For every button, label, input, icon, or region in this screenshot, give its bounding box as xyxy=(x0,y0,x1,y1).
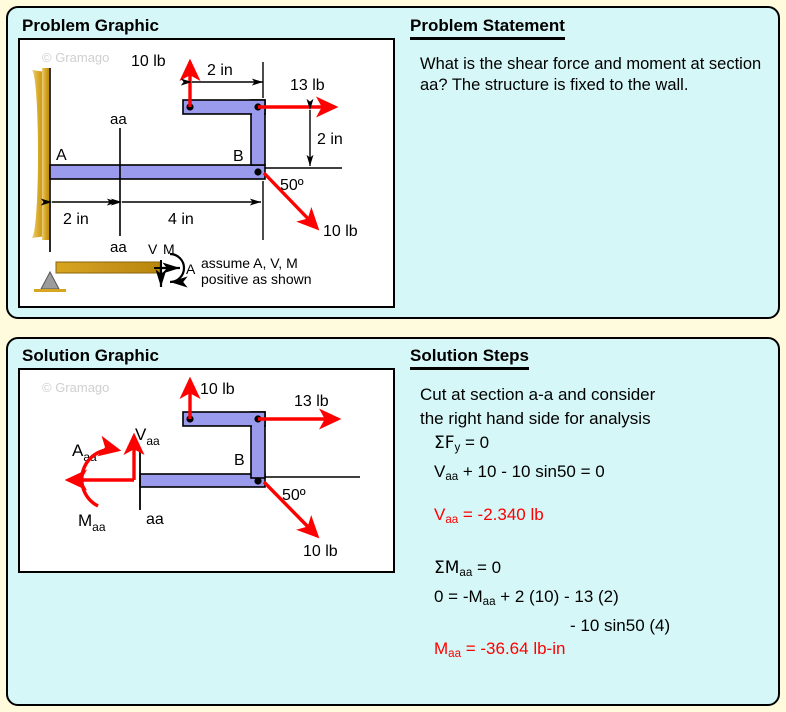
label-point-a: A xyxy=(56,147,67,164)
label-aaa: Aaa xyxy=(72,441,97,464)
solution-graphic-title: Solution Graphic xyxy=(22,346,159,366)
label-maa: Maa xyxy=(78,511,106,534)
label-force-13lb: 13 lb xyxy=(290,77,325,94)
label-dim-2in: 2 in xyxy=(63,211,89,228)
solution-label-force-10lb-angled: 10 lb xyxy=(303,543,338,560)
problem-panel: Problem Graphic Problem Statement © Gram… xyxy=(6,6,780,319)
result-moment-maa: Maa = -36.64 lb-in xyxy=(434,637,780,666)
label-point-b: B xyxy=(233,148,244,165)
convention-beam xyxy=(56,262,160,273)
watermark-solution: © Gramago xyxy=(42,380,109,395)
label-dim-right-2in: 2 in xyxy=(317,131,343,148)
pin-support-triangle xyxy=(41,272,59,289)
label-force-10lb-angled: 10 lb xyxy=(323,223,358,240)
label-convention-note2: positive as shown xyxy=(201,271,312,287)
solution-label-force-13lb: 13 lb xyxy=(294,393,329,410)
bottom-beam xyxy=(50,165,265,179)
label-convention-v: V xyxy=(148,241,158,257)
joint-dot-corner-b xyxy=(254,168,261,175)
solution-steps-title: Solution Steps xyxy=(410,346,529,370)
result-shear-vaa: Vaa = -2.340 lb xyxy=(434,503,780,532)
problem-graphic-title: Problem Graphic xyxy=(22,16,159,36)
equation-moment-line1: 0 = -Maa + 2 (10) - 13 (2) xyxy=(434,585,780,614)
support-ground-line xyxy=(34,289,66,292)
solution-joint-dot-corner-b xyxy=(254,477,261,484)
solution-graphic-canvas: © Gramago B xyxy=(18,368,395,573)
problem-diagram-svg: A B aa aa 10 lb 13 lb 50º 10 lb xyxy=(20,40,393,306)
solution-steps-body: Cut at section a-a and consider the righ… xyxy=(420,383,780,666)
solution-bottom-beam xyxy=(140,474,265,487)
solution-diagram-svg: B aa Vaa Aaa Maa 10 lb 13 lb xyxy=(20,370,393,571)
equation-sum-fy: ΣFy = 0 xyxy=(434,431,780,460)
steps-lead-line2: the right hand side for analysis xyxy=(420,407,780,431)
equation-v-balance: Vaa + 10 - 10 sin50 = 0 xyxy=(434,460,780,489)
problem-statement-title: Problem Statement xyxy=(410,16,565,40)
solution-label-angle-50: 50º xyxy=(282,487,306,504)
label-section-aa-bottom: aa xyxy=(110,239,127,256)
problem-graphic-canvas: © Gramago xyxy=(18,38,395,308)
solution-label-section-aa: aa xyxy=(146,511,164,528)
steps-lead-line1: Cut at section a-a and consider xyxy=(420,383,780,407)
equation-moment-line2: - 10 sin50 (4) xyxy=(570,614,780,637)
label-angle-50: 50º xyxy=(280,177,304,194)
solution-label-force-10lb-up: 10 lb xyxy=(200,381,235,398)
label-force-10lb-up: 10 lb xyxy=(131,53,166,70)
label-dim-top-2in: 2 in xyxy=(207,62,233,79)
label-dim-4in: 4 in xyxy=(168,211,194,228)
watermark-problem: © Gramago xyxy=(42,50,109,65)
label-convention-a: A xyxy=(186,261,196,277)
wall-body xyxy=(42,68,49,240)
equation-sum-maa: ΣMaa = 0 xyxy=(434,556,780,585)
solution-panel: Solution Graphic Solution Steps © Gramag… xyxy=(6,337,780,706)
problem-statement-text: What is the shear force and moment at se… xyxy=(420,54,772,96)
slide-page: Problem Graphic Problem Statement © Gram… xyxy=(0,0,786,712)
label-convention-m: M xyxy=(163,241,175,257)
solution-label-point-b: B xyxy=(234,452,245,469)
label-section-aa-top: aa xyxy=(110,111,127,128)
label-vaa: Vaa xyxy=(135,425,160,448)
label-convention-note1: assume A, V, M xyxy=(201,255,298,271)
